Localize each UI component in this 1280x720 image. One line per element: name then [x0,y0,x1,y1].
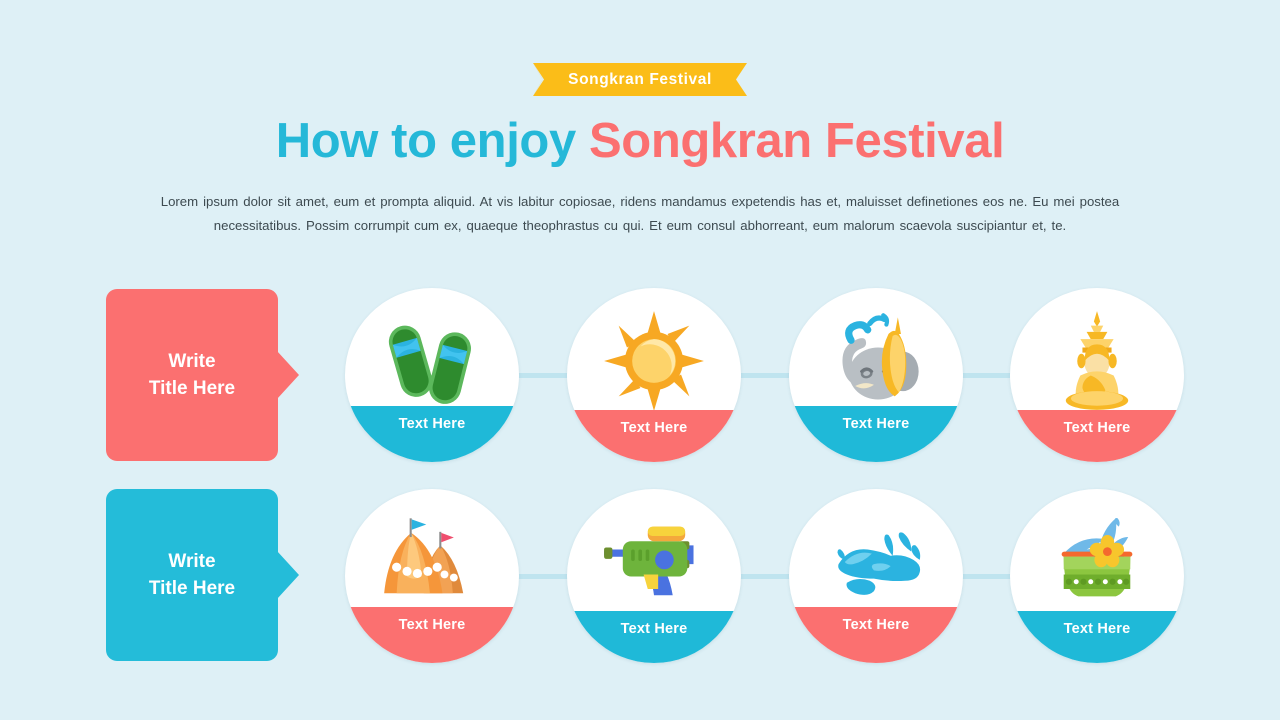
item-band-r1c1: Text Here [345,406,519,462]
slide-canvas: Songkran Festival How to enjoy Songkran … [0,0,1280,720]
callout-row-2-line2: Title Here [149,575,235,602]
item-label-r2c4: Text Here [1064,621,1131,637]
item-card-r1c2[interactable]: Text Here [567,288,741,462]
page-title-part2: Songkran Festival [589,114,1004,168]
item-band-r1c4: Text Here [1010,410,1184,462]
item-card-r2c3[interactable]: Text Here [789,489,963,663]
item-band-r2c1: Text Here [345,607,519,663]
item-label-r2c2: Text Here [621,621,688,637]
ribbon-notch-right [736,63,747,96]
callout-row-1-arrow [277,351,299,399]
item-label-r1c4: Text Here [1064,420,1131,436]
water-bowl-icon [1045,510,1149,614]
item-label-r1c3: Text Here [843,416,910,432]
callout-row-2-line1: Write [149,548,235,575]
item-band-r1c3: Text Here [789,406,963,462]
intro-paragraph: Lorem ipsum dolor sit amet, eum et promp… [118,190,1162,238]
item-card-r2c2[interactable]: Text Here [567,489,741,663]
item-band-r1c2: Text Here [567,410,741,462]
water-gun-icon [602,510,706,614]
ribbon-banner: Songkran Festival [533,63,747,96]
callout-row-2-text: Write Title Here [149,548,235,602]
sand-pagoda-icon [380,510,484,614]
callout-row-1-text: Write Title Here [149,348,235,402]
page-title: How to enjoy Songkran Festival [0,112,1280,170]
callout-row-2-arrow [277,551,299,599]
ribbon-notch-left [533,63,544,96]
sun-icon [602,309,706,413]
item-band-r2c4: Text Here [1010,611,1184,663]
callout-row-1[interactable]: Write Title Here [106,289,278,461]
item-label-r2c1: Text Here [399,617,466,633]
item-card-r2c1[interactable]: Text Here [345,489,519,663]
ribbon-label: Songkran Festival [568,71,712,89]
item-label-r1c2: Text Here [621,420,688,436]
item-label-r1c1: Text Here [399,416,466,432]
elephant-water-icon [824,309,928,413]
item-card-r1c1[interactable]: Text Here [345,288,519,462]
item-card-r1c4[interactable]: Text Here [1010,288,1184,462]
item-label-r2c3: Text Here [843,617,910,633]
buddha-statue-icon [1045,309,1149,413]
callout-row-2[interactable]: Write Title Here [106,489,278,661]
flip-flops-icon [380,309,484,413]
item-card-r2c4[interactable]: Text Here [1010,489,1184,663]
item-band-r2c2: Text Here [567,611,741,663]
callout-row-1-line2: Title Here [149,375,235,402]
water-splash-icon [824,510,928,614]
callout-row-1-line1: Write [149,348,235,375]
page-title-part1: How to enjoy [276,114,589,168]
item-band-r2c3: Text Here [789,607,963,663]
item-card-r1c3[interactable]: Text Here [789,288,963,462]
